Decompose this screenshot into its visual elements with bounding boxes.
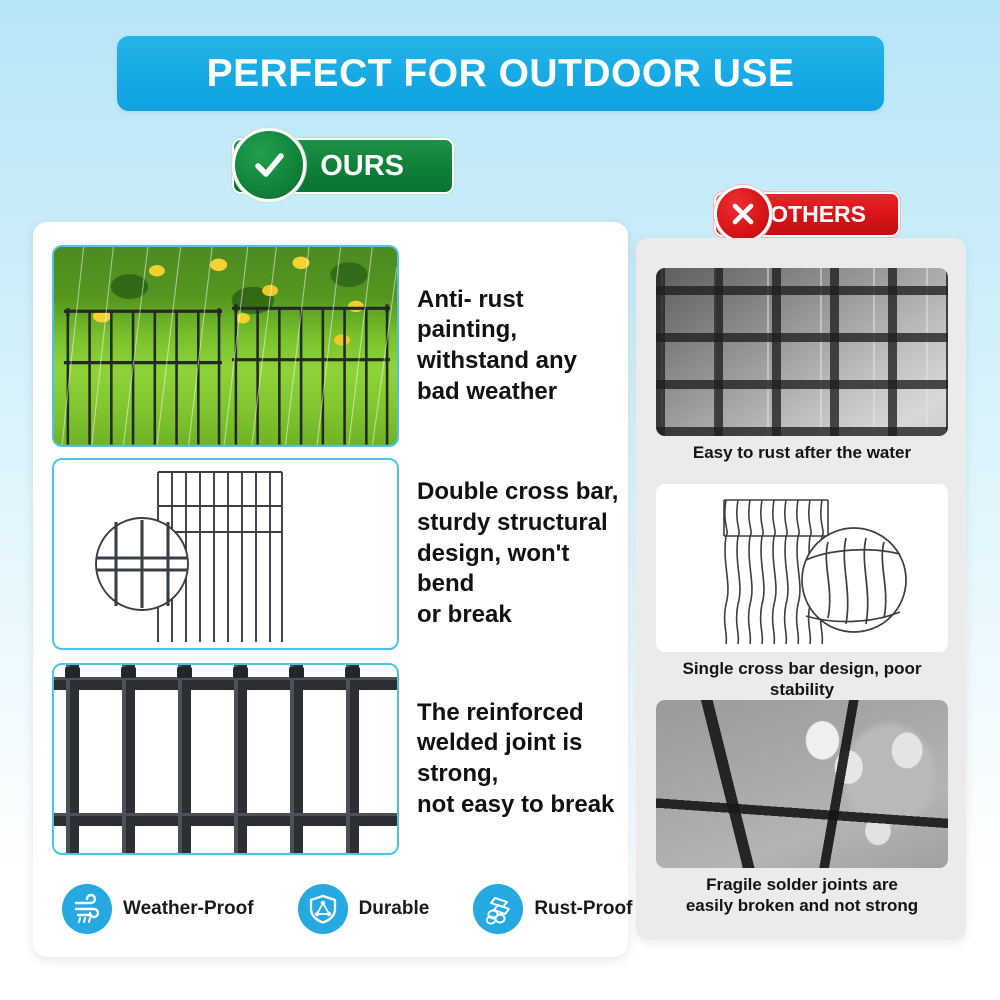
infographic-poster: PERFECT FOR OUTDOOR USE OURS OTHERS (0, 0, 1000, 1000)
shield-icon (298, 884, 348, 934)
ours-row-1: Anti- rust painting, withstand any bad w… (52, 245, 628, 447)
others-item-1-caption: Easy to rust after the water (656, 443, 948, 464)
feature-weather-proof: Weather-Proof (62, 884, 254, 934)
broken-solder-joint-photo (656, 700, 948, 868)
rusty-mesh-photo (656, 268, 948, 436)
others-item-1: Easy to rust after the water (656, 268, 948, 464)
header-banner: PERFECT FOR OUTDOOR USE (117, 36, 884, 111)
ours-row-3: The reinforced welded joint is strong, n… (52, 663, 628, 855)
ours-item-3-text: The reinforced welded joint is strong, n… (417, 698, 628, 821)
ours-card: Anti- rust painting, withstand any bad w… (33, 222, 628, 957)
feature-weather-proof-label: Weather-Proof (123, 898, 254, 920)
feature-durable: Durable (298, 884, 430, 934)
rust-proof-icon (473, 884, 523, 934)
badge-ours: OURS (232, 138, 454, 194)
feature-list: Weather-Proof Durable (62, 884, 622, 934)
wind-icon (62, 884, 112, 934)
welded-joint-closeup (52, 663, 399, 855)
single-crossbar-diagram (656, 484, 948, 652)
ours-item-1-text: Anti- rust painting, withstand any bad w… (417, 285, 628, 408)
badge-ours-label: OURS (320, 150, 404, 183)
ours-row-2: Double cross bar, sturdy structural desi… (52, 458, 628, 650)
x-icon (714, 185, 772, 243)
others-item-2-caption: Single cross bar design, poor stability (656, 659, 948, 700)
garden-fence-photo (52, 245, 399, 447)
others-item-3: Fragile solder joints are easily broken … (656, 700, 948, 916)
double-crossbar-diagram (52, 458, 399, 650)
page-title: PERFECT FOR OUTDOOR USE (207, 52, 795, 96)
feature-rust-proof: Rust-Proof (473, 884, 632, 934)
feature-durable-label: Durable (359, 898, 430, 920)
others-item-2: Single cross bar design, poor stability (656, 484, 948, 700)
feature-rust-proof-label: Rust-Proof (534, 898, 632, 920)
others-item-3-caption: Fragile solder joints are easily broken … (656, 875, 948, 916)
ours-item-2-text: Double cross bar, sturdy structural desi… (417, 477, 628, 631)
check-icon (232, 128, 306, 202)
badge-others: OTHERS (714, 192, 900, 237)
badge-others-label: OTHERS (770, 201, 866, 228)
